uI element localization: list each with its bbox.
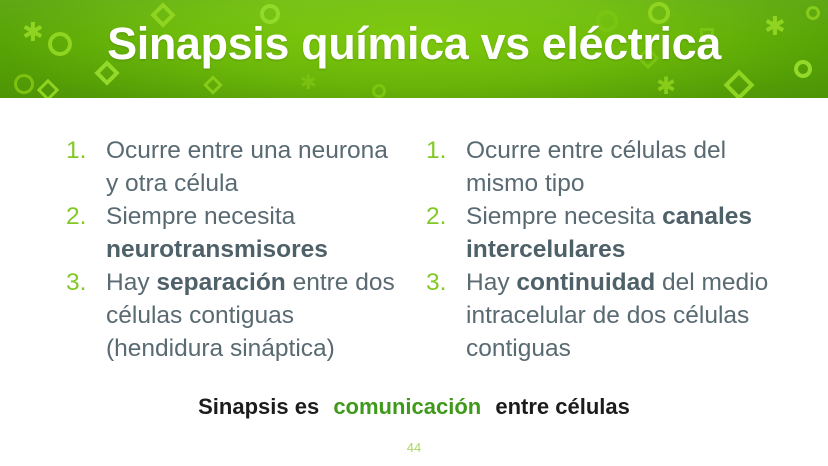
page-title: Sinapsis química vs eléctrica bbox=[0, 16, 828, 72]
slide-header-banner: ✱ ✱ ✱ ✱ Sinapsis química vs eléctrica bbox=[0, 0, 828, 98]
column-sinapsis-quimica: Ocurre entre una neurona y otra célulaSi… bbox=[58, 134, 406, 365]
list-item-emphasis: separación bbox=[156, 269, 285, 296]
caption-accent-word: comunicación bbox=[333, 394, 481, 419]
list-item-text: Siempre necesita bbox=[106, 203, 295, 230]
list-item: Siempre necesita neurotransmisores bbox=[58, 200, 406, 266]
asterisk-icon: ✱ bbox=[300, 72, 317, 92]
list-item-text: Ocurre entre una neurona y otra célula bbox=[106, 137, 388, 197]
numbered-list-left: Ocurre entre una neurona y otra célulaSi… bbox=[58, 134, 406, 365]
slide-root: ✱ ✱ ✱ ✱ Sinapsis química vs eléctrica Oc… bbox=[0, 0, 828, 466]
summary-caption: Sinapsis es comunicación entre células bbox=[0, 393, 828, 421]
ring-icon bbox=[372, 84, 386, 98]
asterisk-icon: ✱ bbox=[656, 74, 676, 98]
list-item-text: Hay bbox=[106, 269, 156, 296]
list-item: Hay continuidad del medio intracelular d… bbox=[418, 266, 770, 365]
list-item-emphasis: continuidad bbox=[516, 269, 655, 296]
list-item: Ocurre entre células del mismo tipo bbox=[418, 134, 770, 200]
list-item-text: Ocurre entre células del mismo tipo bbox=[466, 137, 726, 197]
page-number: 44 bbox=[0, 440, 828, 456]
diamond-icon bbox=[203, 75, 223, 95]
column-sinapsis-electrica: Ocurre entre células del mismo tipoSiemp… bbox=[418, 134, 770, 365]
list-item-emphasis: neurotransmisores bbox=[106, 236, 328, 263]
diamond-icon bbox=[37, 79, 60, 98]
caption-after: entre células bbox=[495, 394, 630, 419]
numbered-list-right: Ocurre entre células del mismo tipoSiemp… bbox=[418, 134, 770, 365]
ring-icon bbox=[14, 74, 34, 94]
diamond-icon bbox=[723, 69, 754, 98]
list-item: Siempre necesita canales intercelulares bbox=[418, 200, 770, 266]
list-item-text: Siempre necesita bbox=[466, 203, 662, 230]
list-item: Hay separación entre dos células contigu… bbox=[58, 266, 406, 365]
list-item: Ocurre entre una neurona y otra célula bbox=[58, 134, 406, 200]
list-item-text: Hay bbox=[466, 269, 516, 296]
caption-before: Sinapsis es bbox=[198, 394, 319, 419]
